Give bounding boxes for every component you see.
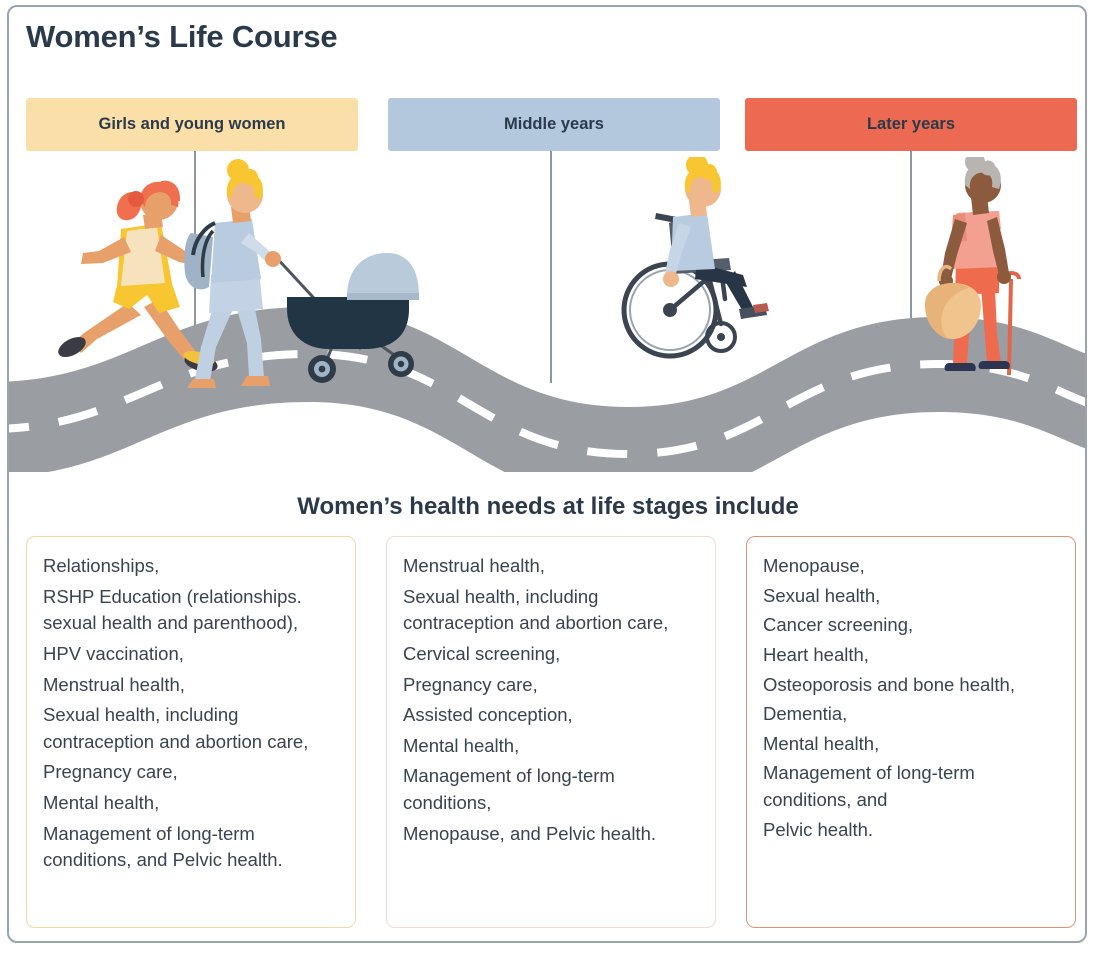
- needs-item: Sexual health, including contraception a…: [403, 584, 699, 637]
- needs-item: Management of long-term conditions,: [403, 763, 699, 816]
- stage-label: Middle years: [504, 115, 604, 134]
- infographic-frame: Women’s Life Course Girls and young wome…: [7, 5, 1087, 943]
- needs-item: Menopause, and Pelvic health.: [403, 821, 699, 848]
- needs-item: Sexual health,: [763, 583, 1059, 610]
- needs-list-later: Menopause,Sexual health,Cancer screening…: [763, 553, 1059, 843]
- page-title: Women’s Life Course: [26, 19, 337, 55]
- needs-item: Cancer screening,: [763, 612, 1059, 639]
- needs-panel-later-years: Menopause,Sexual health,Cancer screening…: [746, 536, 1076, 928]
- needs-item: Mental health,: [43, 790, 339, 817]
- stage-header-middle-years: Middle years: [388, 98, 720, 151]
- needs-item: Mental health,: [763, 731, 1059, 758]
- needs-item: Pregnancy care,: [403, 672, 699, 699]
- needs-item: HPV vaccination,: [43, 641, 339, 668]
- needs-item: Management of long-term conditions, and: [763, 760, 1059, 813]
- needs-item: Pregnancy care,: [43, 759, 339, 786]
- needs-item: Assisted conception,: [403, 702, 699, 729]
- needs-item: Dementia,: [763, 701, 1059, 728]
- needs-list-middle: Menstrual health,Sexual health, includin…: [403, 553, 699, 847]
- needs-item: Menopause,: [763, 553, 1059, 580]
- needs-item: RSHP Education (relationships. sexual he…: [43, 584, 339, 637]
- figure-woman-in-wheelchair: [624, 157, 769, 356]
- needs-panel-middle-years: Menstrual health,Sexual health, includin…: [386, 536, 716, 928]
- needs-item: Menstrual health,: [43, 672, 339, 699]
- stage-label: Later years: [867, 115, 955, 134]
- needs-item: Sexual health, including contraception a…: [43, 702, 339, 755]
- needs-item: Management of long-term conditions, and …: [43, 821, 339, 874]
- stage-header-girls-and-young-women: Girls and young women: [26, 98, 358, 151]
- needs-panel-girls-and-young-women: Relationships,RSHP Education (relationsh…: [26, 536, 356, 928]
- needs-list-girls: Relationships,RSHP Education (relationsh…: [43, 553, 339, 874]
- needs-item: Heart health,: [763, 642, 1059, 669]
- needs-item: Osteoporosis and bone health,: [763, 672, 1059, 699]
- needs-item: Cervical screening,: [403, 641, 699, 668]
- life-course-illustration: [9, 157, 1087, 472]
- needs-subtitle: Women’s health needs at life stages incl…: [9, 493, 1087, 521]
- stage-header-later-years: Later years: [745, 98, 1077, 151]
- stage-label: Girls and young women: [98, 115, 285, 134]
- needs-item: Relationships,: [43, 553, 339, 580]
- needs-item: Menstrual health,: [403, 553, 699, 580]
- needs-item: Pelvic health.: [763, 817, 1059, 844]
- needs-item: Mental health,: [403, 733, 699, 760]
